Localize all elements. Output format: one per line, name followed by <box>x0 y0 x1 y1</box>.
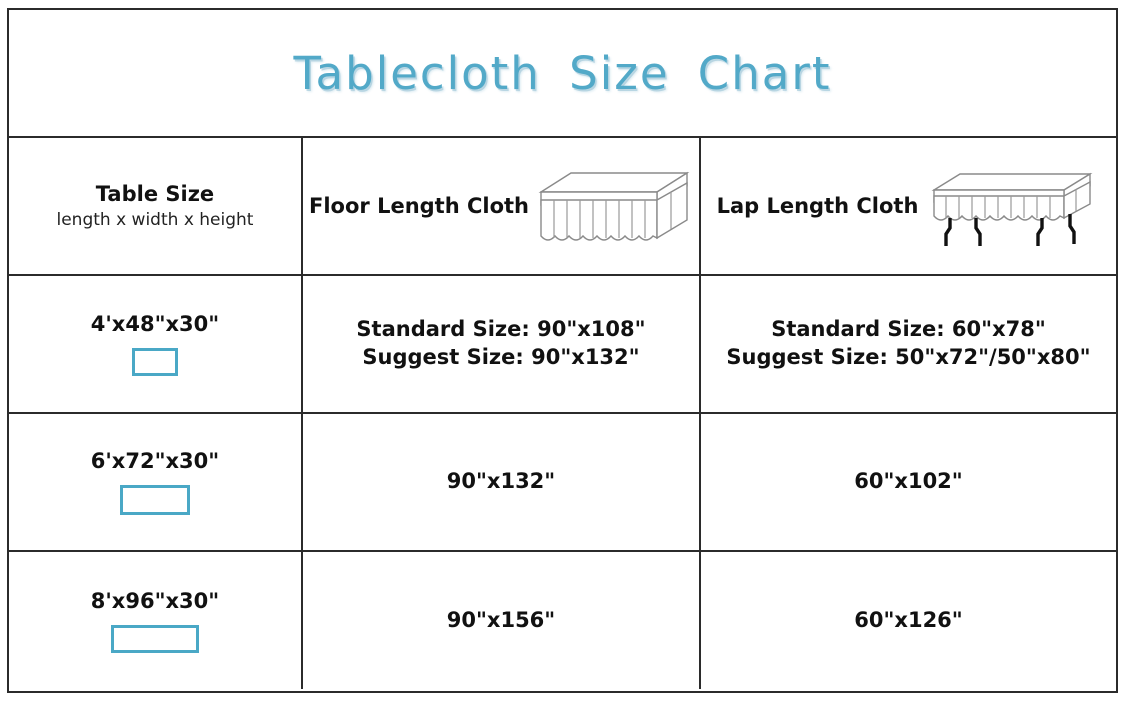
lap-suggest-size: Suggest Size: 50"x72"/50"x80" <box>726 344 1090 372</box>
header-cell-lap-length: Lap Length Cloth <box>701 138 1116 274</box>
tablecloth-size-chart: Tablecloth Size Chart Table Size length … <box>7 8 1118 693</box>
table-shape-indicator <box>132 348 178 376</box>
table-row: 4'x48"x30" Standard Size: 90"x108" Sugge… <box>9 276 1116 414</box>
header-cell-table-size: Table Size length x width x height <box>9 138 303 274</box>
cell-table-size: 4'x48"x30" <box>9 276 303 412</box>
lap-length-heading: Lap Length Cloth <box>717 194 919 218</box>
cell-lap-length: Standard Size: 60"x78" Suggest Size: 50"… <box>701 276 1116 412</box>
floor-suggest-size: Suggest Size: 90"x132" <box>356 344 645 372</box>
title-row: Tablecloth Size Chart <box>9 10 1116 138</box>
table-shape-indicator <box>120 485 190 515</box>
floor-standard-size: Standard Size: 90"x108" <box>356 317 645 341</box>
table-size-value: 8'x96"x30" <box>91 589 219 613</box>
table-header-row: Table Size length x width x height Floor… <box>9 138 1116 276</box>
table-row: 6'x72"x30" 90"x132" 60"x102" <box>9 414 1116 552</box>
floor-length-tablecloth-icon <box>535 164 693 248</box>
table-size-heading: Table Size <box>96 181 214 207</box>
cell-floor-length: 90"x132" <box>303 414 701 550</box>
cell-table-size: 8'x96"x30" <box>9 552 303 689</box>
floor-standard-size: 90"x156" <box>447 608 556 632</box>
cell-floor-length: 90"x156" <box>303 552 701 689</box>
size-table: Table Size length x width x height Floor… <box>9 138 1116 691</box>
table-row: 8'x96"x30" 90"x156" 60"x126" <box>9 552 1116 689</box>
page-title: Tablecloth Size Chart <box>294 47 832 100</box>
lap-standard-size: Standard Size: 60"x78" <box>771 317 1046 341</box>
table-size-subheading: length x width x height <box>57 210 254 231</box>
table-size-value: 4'x48"x30" <box>91 312 219 336</box>
cell-table-size: 6'x72"x30" <box>9 414 303 550</box>
cell-lap-length: 60"x102" <box>701 414 1116 550</box>
table-size-value: 6'x72"x30" <box>91 449 219 473</box>
header-cell-floor-length: Floor Length Cloth <box>303 138 701 274</box>
table-shape-indicator <box>111 625 199 653</box>
lap-standard-size: 60"x126" <box>854 608 963 632</box>
cell-floor-length: Standard Size: 90"x108" Suggest Size: 90… <box>303 276 701 412</box>
cell-lap-length: 60"x126" <box>701 552 1116 689</box>
lap-length-tablecloth-icon <box>924 160 1100 252</box>
floor-length-heading: Floor Length Cloth <box>309 194 529 218</box>
floor-standard-size: 90"x132" <box>447 469 556 493</box>
lap-standard-size: 60"x102" <box>854 469 963 493</box>
